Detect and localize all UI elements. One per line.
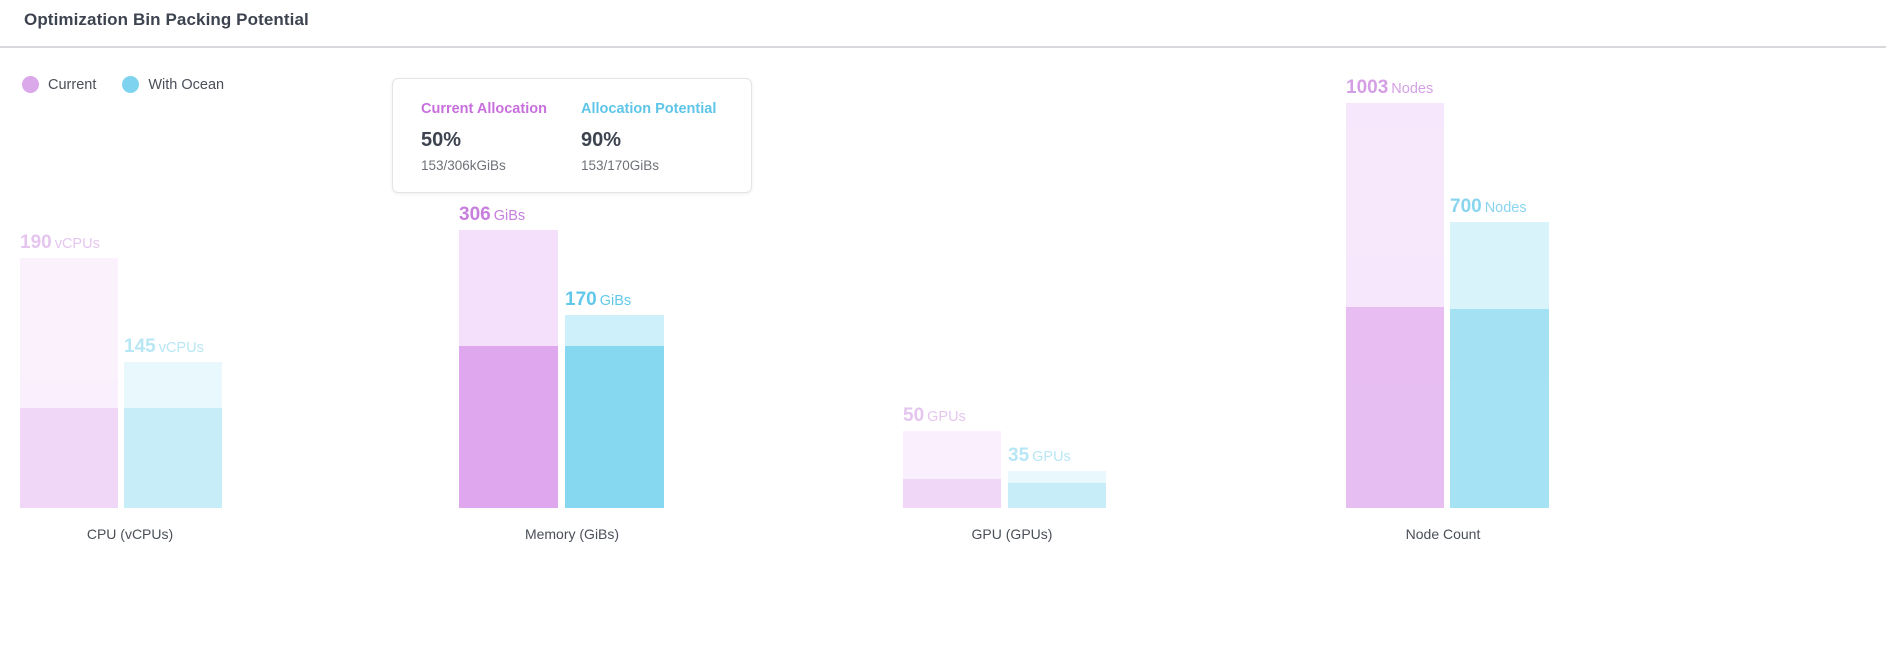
bar-value-label: 306GiBs — [459, 204, 525, 226]
bar-value-number: 1003 — [1346, 77, 1388, 98]
bar-value-label: 35GPUs — [1008, 445, 1071, 467]
bar-value-unit: Nodes — [1391, 81, 1433, 97]
bar-segment-potential — [1008, 471, 1106, 483]
bar-node-current[interactable]: 1003Nodes — [1346, 103, 1444, 508]
bar-value-label: 1003Nodes — [1346, 77, 1433, 99]
category-label-gpu: GPU (GPUs) — [862, 526, 1162, 542]
bar-value-unit: GPUs — [927, 409, 966, 425]
bar-value-number: 50 — [903, 405, 924, 426]
bar-segment-used — [1008, 483, 1106, 508]
bar-segment-potential — [903, 431, 1001, 479]
bar-gpu-current[interactable]: 50GPUs — [903, 431, 1001, 508]
bar-segment-used — [20, 408, 118, 508]
bar-value-number: 35 — [1008, 445, 1029, 466]
bar-value-label: 190vCPUs — [20, 232, 100, 254]
bar-segment-potential — [565, 315, 664, 346]
bar-segment-potential — [1346, 103, 1444, 307]
bar-value-label: 170GiBs — [565, 289, 631, 311]
bar-memory-with-ocean[interactable]: 170GiBs — [565, 315, 664, 508]
bar-value-number: 306 — [459, 204, 491, 225]
bar-segment-potential — [459, 230, 558, 346]
bar-segment-used — [565, 346, 664, 508]
bar-segment-used — [1450, 309, 1549, 508]
bar-segment-used — [124, 408, 222, 508]
bar-value-number: 145 — [124, 336, 156, 357]
bar-value-unit: vCPUs — [55, 236, 100, 252]
bar-cpu-with-ocean[interactable]: 145vCPUs — [124, 362, 222, 508]
bar-value-label: 145vCPUs — [124, 336, 204, 358]
bar-value-number: 170 — [565, 289, 597, 310]
category-label-memory: Memory (GiBs) — [422, 526, 722, 542]
bar-chart-plot-area: 190vCPUs145vCPUs306GiBs170GiBs50GPUs35GP… — [0, 0, 1886, 666]
bar-value-label: 50GPUs — [903, 405, 966, 427]
bar-segment-potential — [20, 258, 118, 408]
bar-node-with-ocean[interactable]: 700Nodes — [1450, 222, 1549, 508]
bar-segment-used — [459, 346, 558, 508]
bar-value-number: 190 — [20, 232, 52, 253]
bar-value-unit: Nodes — [1485, 200, 1527, 216]
bar-value-number: 700 — [1450, 196, 1482, 217]
bar-value-unit: vCPUs — [159, 340, 204, 356]
bar-value-label: 700Nodes — [1450, 196, 1527, 218]
category-label-cpu: CPU (vCPUs) — [0, 526, 280, 542]
bar-segment-potential — [1450, 222, 1549, 309]
bar-segment-used — [903, 479, 1001, 508]
bar-memory-current[interactable]: 306GiBs — [459, 230, 558, 508]
bar-value-unit: GPUs — [1032, 449, 1071, 465]
bar-cpu-current[interactable]: 190vCPUs — [20, 258, 118, 508]
bar-segment-potential — [124, 362, 222, 408]
bar-value-unit: GiBs — [494, 208, 525, 224]
bar-segment-used — [1346, 307, 1444, 508]
bar-gpu-with-ocean[interactable]: 35GPUs — [1008, 471, 1106, 508]
bar-value-unit: GiBs — [600, 293, 631, 309]
category-label-node: Node Count — [1293, 526, 1593, 542]
